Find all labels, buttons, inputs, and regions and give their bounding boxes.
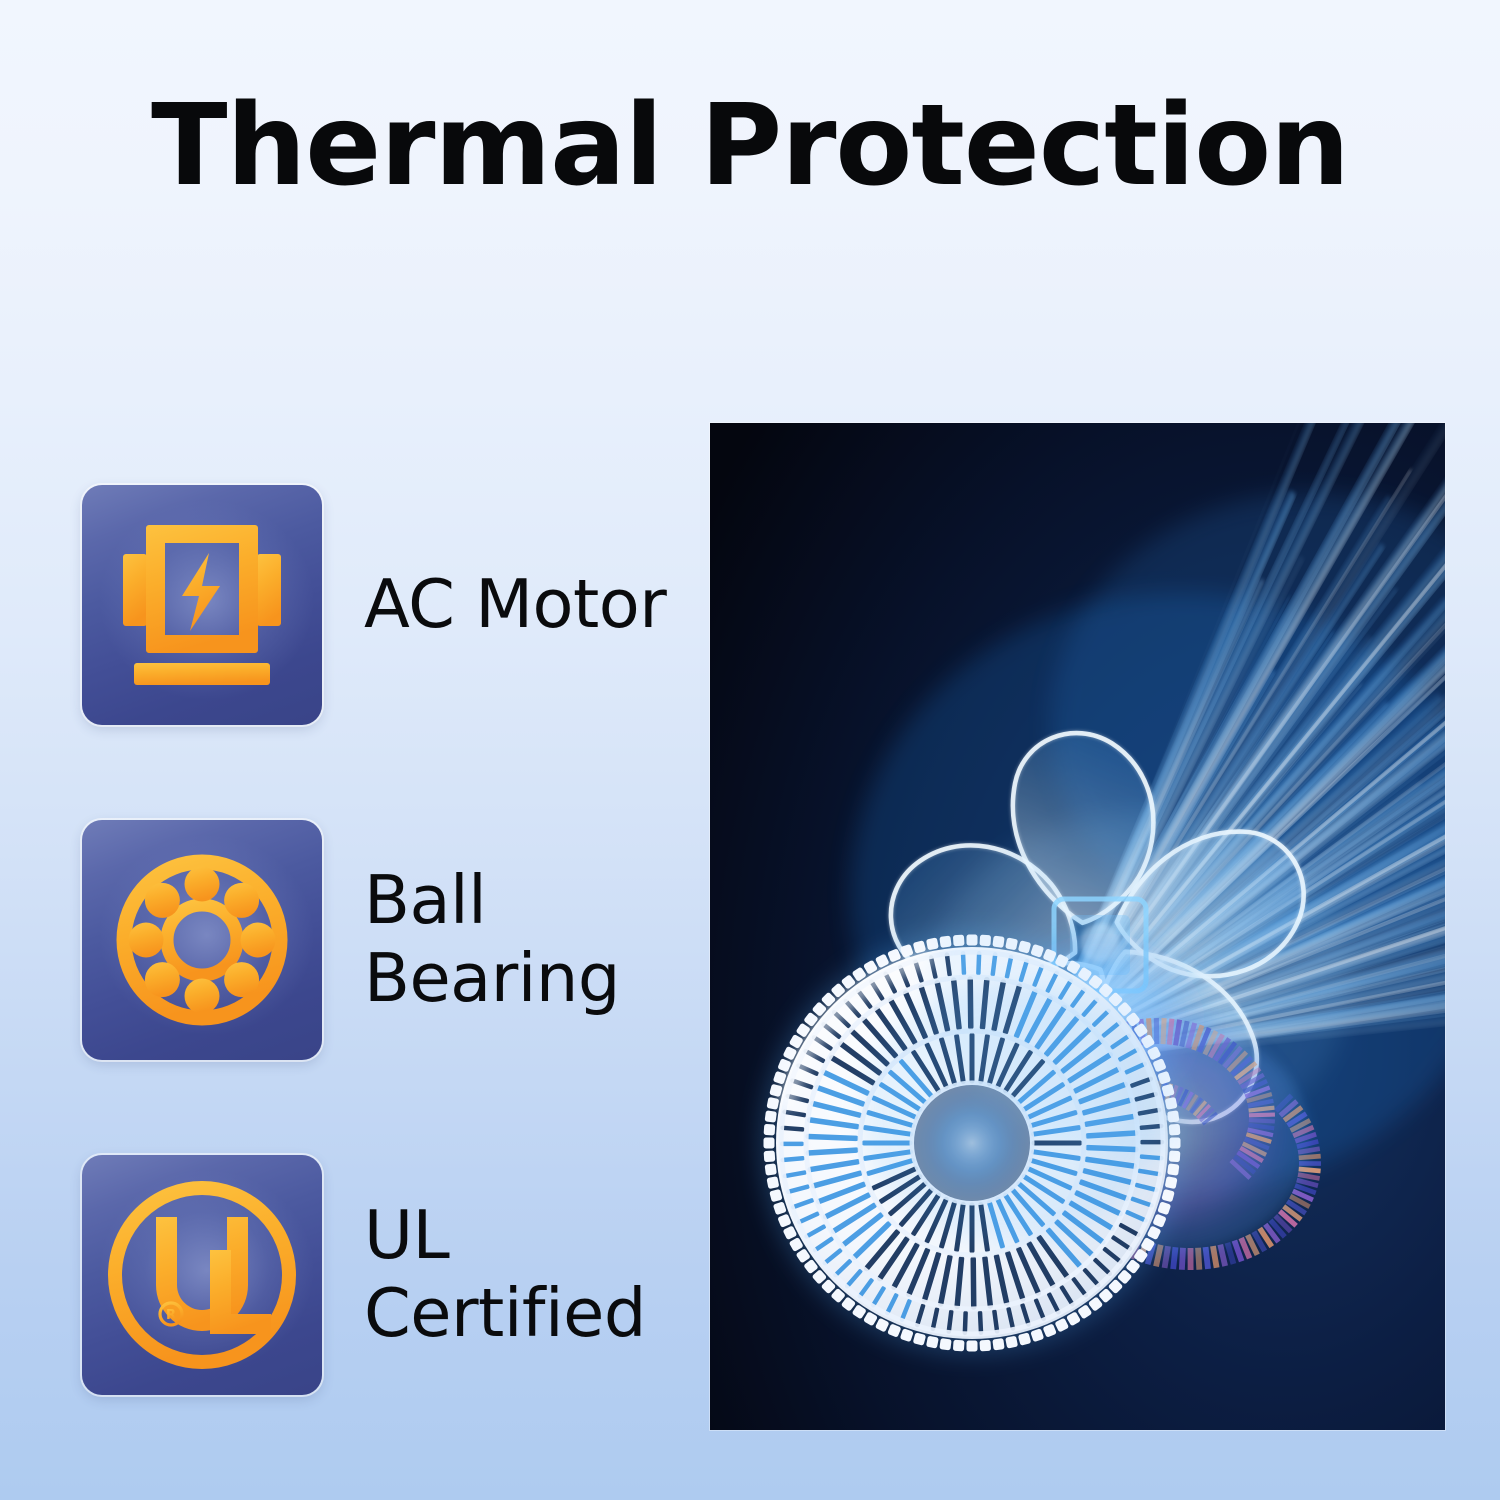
feature-label-ball-bearing: Ball Bearing <box>364 862 620 1017</box>
svg-text:R: R <box>166 1308 176 1323</box>
feature-item-ac-motor: AC Motor <box>82 485 682 725</box>
feature-label-line: Bearing <box>364 940 620 1018</box>
feature-label-ul-certified: UL Certified <box>364 1197 646 1352</box>
ul-certified-icon-tile: R <box>82 1155 322 1395</box>
product-image-panel <box>710 423 1445 1430</box>
page-title: Thermal Protection <box>0 88 1500 206</box>
ul-certified-icon: R <box>82 1155 322 1395</box>
feature-list: AC Motor <box>82 485 682 1395</box>
fan-motor-airflow-illustration <box>710 423 1445 1430</box>
feature-item-ball-bearing: Ball Bearing <box>82 820 682 1060</box>
thermal-protection-infographic: Thermal Protection <box>0 0 1500 1500</box>
ac-motor-icon <box>82 485 322 725</box>
feature-label-line: AC Motor <box>364 566 666 644</box>
feature-label-line: Certified <box>364 1275 646 1353</box>
feature-label-line: Ball <box>364 862 620 940</box>
feature-label-ac-motor: AC Motor <box>364 566 666 644</box>
feature-item-ul-certified: R UL Certified <box>82 1155 682 1395</box>
ac-motor-icon-tile <box>82 485 322 725</box>
ball-bearing-icon-tile <box>82 820 322 1060</box>
ball-bearing-icon <box>82 820 322 1060</box>
feature-label-line: UL <box>364 1197 646 1275</box>
